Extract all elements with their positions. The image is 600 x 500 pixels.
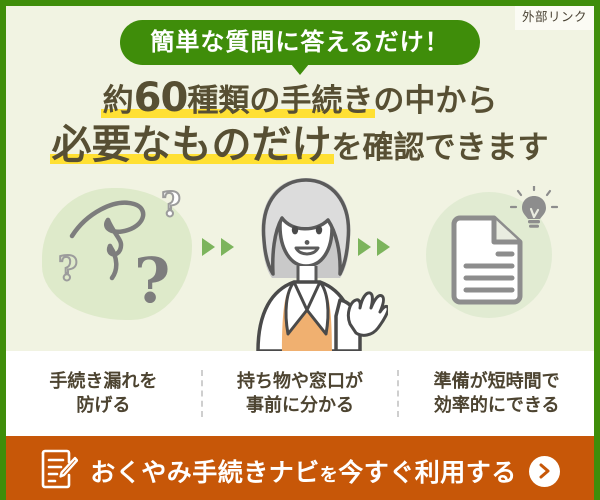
cta-label-main: おくやみ手続きナビ xyxy=(90,458,320,487)
cta-label-tail: 今すぐ利用する xyxy=(338,458,517,487)
feature-item-1-line-1: 手続き漏れを xyxy=(10,370,197,394)
cta-label-particle: を xyxy=(320,465,339,486)
feature-item-1-line-2: 防げる xyxy=(10,394,197,418)
question-mark-small-icon: ? xyxy=(58,252,78,286)
triangle-right-icon xyxy=(358,238,371,256)
arrows-right-group xyxy=(358,238,396,261)
question-mark-large-icon: ? xyxy=(134,250,170,312)
headline-line-1-highlight: 約60種類の手続き xyxy=(103,78,374,118)
headline-kinds-label: 種類の手続き xyxy=(187,83,373,119)
question-mark-medium-icon: ? xyxy=(161,188,181,222)
cta-button[interactable]: おくやみ手続きナビを今すぐ利用する xyxy=(0,436,600,500)
headline-line-1: 約60種類の手続きの中から xyxy=(6,78,594,118)
feature-item-2-line-2: 事前に分かる xyxy=(207,394,394,418)
document-pencil-icon xyxy=(40,449,78,494)
pill-container: 簡単な質問に答えるだけ！ xyxy=(6,20,594,65)
lightbulb-icon xyxy=(510,186,558,239)
illustration-row: ? ? ? xyxy=(6,174,594,351)
page-title: 約60種類の手続きの中から 必要なものだけを確認できます xyxy=(6,78,594,165)
hero-section: 簡単な質問に答えるだけ！ 約60種類の手続きの中から 必要なものだけを確認できま… xyxy=(6,6,594,351)
feature-list: 手続き漏れを 防げる 持ち物や窓口が 事前に分かる 準備が短時間で 効率的にでき… xyxy=(6,351,594,436)
triangle-right-icon xyxy=(377,238,390,256)
chevron-right-icon[interactable] xyxy=(529,456,560,487)
promo-banner: 外部リンク 簡単な質問に答えるだけ！ 約60種類の手続きの中から 必要なものだけ… xyxy=(0,0,600,500)
headline-approx-label: 約 xyxy=(103,83,134,119)
feature-item-3-line-1: 準備が短時間で xyxy=(403,370,590,394)
headline-line-1-rest: の中から xyxy=(373,83,497,119)
cta-label: おくやみ手続きナビを今すぐ利用する xyxy=(90,453,517,489)
feature-item-1: 手続き漏れを 防げる xyxy=(6,370,201,418)
waving-woman-illustration xyxy=(228,174,388,356)
headline-line-2: 必要なものだけを確認できます xyxy=(6,125,594,165)
headline-line-2-highlight: 必要なものだけ xyxy=(52,125,332,165)
headline-line-2-rest: を確認できます xyxy=(332,130,549,166)
feature-item-2-line-1: 持ち物や窓口が xyxy=(207,370,394,394)
headline-pill-badge: 簡単な質問に答えるだけ！ xyxy=(120,20,479,65)
feature-item-3-line-2: 効率的にできる xyxy=(403,394,590,418)
feature-item-2: 持ち物や窓口が 事前に分かる xyxy=(201,370,398,418)
triangle-right-icon xyxy=(202,238,215,256)
cta-content: おくやみ手続きナビを今すぐ利用する xyxy=(40,449,560,494)
external-link-badge: 外部リンク xyxy=(515,6,594,30)
headline-number-60: 60 xyxy=(134,75,188,121)
feature-item-3: 準備が短時間で 効率的にできる xyxy=(397,370,594,418)
